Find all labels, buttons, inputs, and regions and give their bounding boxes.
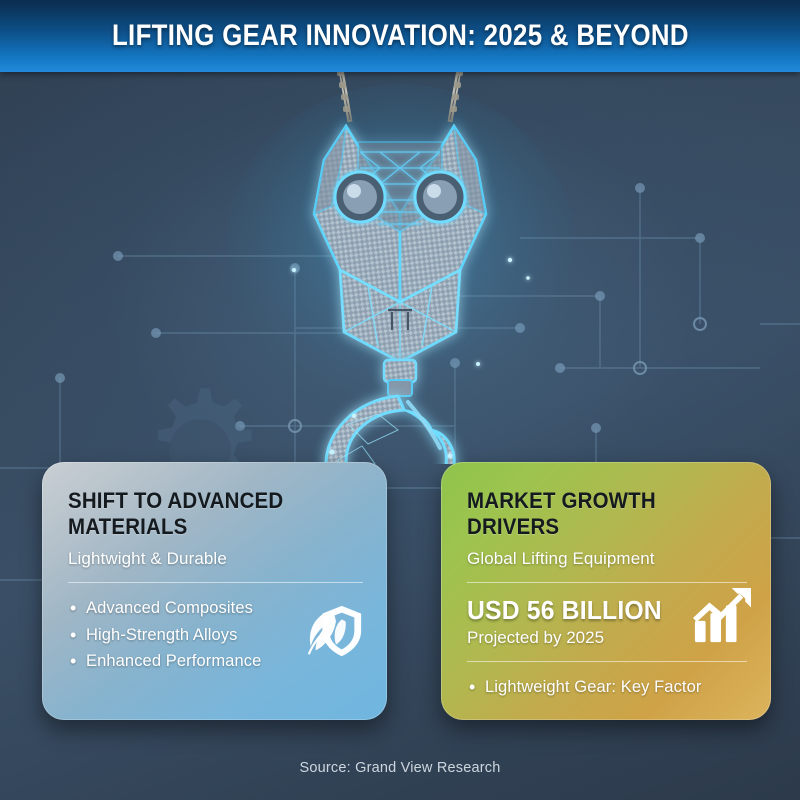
card-bullet-list: Lightweight Gear: Key Factor [467,674,747,701]
card-divider-secondary [467,661,747,662]
card-title: SHIFT TO ADVANCED MATERIALS [68,488,342,539]
card-market-growth-drivers[interactable]: MARKET GROWTH DRIVERS Global Lifting Equ… [441,462,771,720]
list-item: Lightweight Gear: Key Factor [467,674,747,701]
card-divider [68,582,363,583]
source-footer: Source: Grand View Research [0,760,800,776]
growth-chart-icon [691,588,753,646]
card-subtitle: Lightwight & Durable [68,549,363,569]
card-title: MARKET GROWTH DRIVERS [467,488,727,539]
page-title: LIFTING GEAR INNOVATION: 2025 & BEYOND [112,19,689,53]
card-divider [467,582,747,583]
infographic-poster: LIFTING GEAR INNOVATION: 2025 & BEYOND [0,0,800,800]
card-subtitle: Global Lifting Equipment [467,549,747,569]
card-shift-to-advanced-materials[interactable]: SHIFT TO ADVANCED MATERIALS Lightwight &… [42,462,387,720]
header-banner: LIFTING GEAR INNOVATION: 2025 & BEYOND [0,0,800,72]
leaf-shield-icon [303,600,365,662]
lifting-hook-illustration [228,64,572,464]
